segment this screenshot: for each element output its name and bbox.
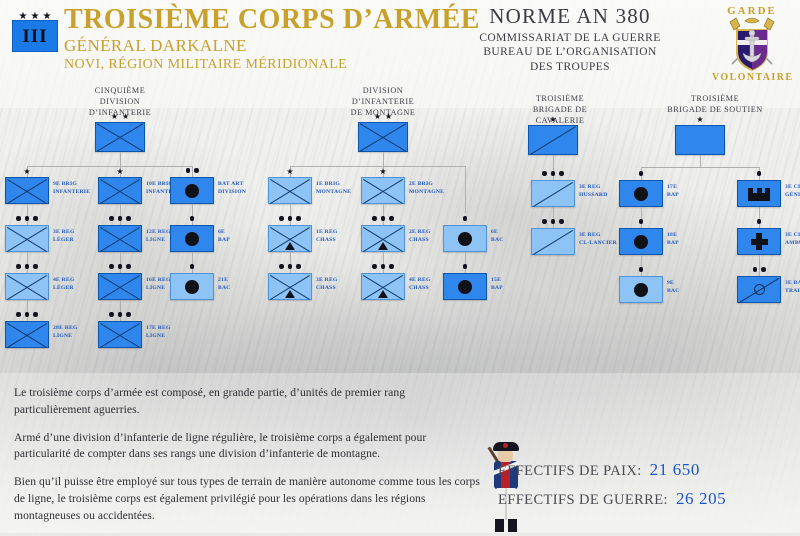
commander-name: GÉNÉRAL DARKALNE	[64, 36, 247, 56]
connector	[641, 167, 759, 168]
star-icon: ★	[23, 168, 30, 176]
unit-label: 15e BAP	[491, 277, 553, 292]
unit-symbol-artillery	[443, 273, 487, 300]
echelon-marks	[268, 264, 312, 269]
figure-cockade	[503, 443, 508, 448]
echelon-marks	[5, 312, 49, 317]
dot-icon	[109, 312, 114, 317]
mountain-triangle-icon	[285, 242, 295, 250]
dot-icon	[542, 219, 547, 224]
unit-symbol-artillery	[619, 180, 663, 207]
engineer-castle-icon	[748, 188, 770, 201]
star-icon: ★	[286, 168, 293, 176]
echelon-marks	[737, 267, 781, 272]
unit-node-15e-bap[interactable]: 15e BAP	[443, 273, 487, 300]
echelon-marks	[619, 171, 663, 176]
unit-node-9e-brig-infanterie[interactable]: ★ 9e BRIG INFANTERIE	[5, 177, 49, 204]
unit-node-5e-division-hq[interactable]: ★ ★	[95, 122, 145, 152]
unit-node-bat-art-division[interactable]: BAT ART DIVISION	[170, 177, 214, 204]
star-icon: ★	[122, 113, 129, 121]
unit-node-3e-reg-chass[interactable]: 3e REG CHASS	[268, 273, 312, 300]
unit-symbol-medical	[737, 228, 781, 255]
dot-icon	[639, 267, 644, 272]
artillery-dot-icon	[185, 232, 199, 246]
artillery-dot-icon	[458, 232, 472, 246]
connector	[120, 300, 121, 321]
effectifs-war-label: EFFECTIFS DE GUERRE:	[498, 492, 668, 509]
star-icon: ★	[385, 113, 392, 121]
unit-symbol-mountain-infantry	[361, 273, 405, 300]
unit-symbol-infantry	[98, 225, 142, 252]
effectifs-war-value: 26 205	[676, 489, 726, 509]
dot-icon	[761, 267, 766, 272]
dot-icon	[126, 264, 131, 269]
figure-boot-left	[495, 519, 504, 532]
unit-label: 18e BAP	[667, 232, 729, 247]
dot-icon	[639, 219, 644, 224]
connector	[27, 252, 28, 273]
connector	[120, 252, 121, 273]
echelon-marks	[531, 219, 575, 224]
dot-icon	[25, 312, 30, 317]
echelon-marks	[170, 264, 214, 269]
echelon-marks	[737, 171, 781, 176]
echelon-marks	[361, 216, 405, 221]
unit-label: 9e BAC	[667, 280, 729, 295]
effectifs-peace-value: 21 650	[650, 460, 700, 480]
dot-icon	[109, 216, 114, 221]
echelon-marks	[268, 216, 312, 221]
unit-symbol-infantry	[5, 321, 49, 348]
echelon-marks	[5, 216, 49, 221]
effectifs-peace-row: EFFECTIFS DE PAIX: 21 650	[498, 460, 790, 480]
connector	[553, 207, 554, 228]
dot-icon	[16, 312, 21, 317]
artillery-dot-icon	[634, 235, 648, 249]
dot-icon	[16, 264, 21, 269]
star-icon: ★	[379, 168, 386, 176]
unit-label: 3e CIE GÉNIE	[785, 184, 800, 199]
unit-symbol-train	[737, 276, 781, 303]
connector	[383, 204, 384, 225]
dot-icon	[381, 264, 386, 269]
unit-symbol-artillery	[170, 225, 214, 252]
dot-icon	[33, 312, 38, 317]
unit-node-6e-bap[interactable]: 6e BAP	[170, 225, 214, 252]
echelon-marks	[531, 171, 575, 176]
unit-symbol-cavalry	[528, 125, 578, 155]
unit-symbol-artillery	[619, 228, 663, 255]
dot-icon	[126, 312, 131, 317]
dot-icon	[33, 216, 38, 221]
description-text: Le troisième corps d’armée est composé, …	[14, 385, 484, 536]
unit-symbol-cavalry	[531, 228, 575, 255]
unit-symbol-mountain-infantry	[361, 225, 405, 252]
unit-symbol-artillery	[170, 273, 214, 300]
corps-plate: III	[12, 20, 58, 52]
echelon-marks	[98, 264, 142, 269]
dot-icon	[25, 216, 30, 221]
unit-node-6e-bac[interactable]: 6e BAC	[443, 225, 487, 252]
corps-badge: ★ ★ ★ III	[12, 12, 58, 52]
unit-symbol-artillery	[619, 276, 663, 303]
dot-icon	[186, 168, 191, 173]
artillery-dot-icon	[185, 184, 199, 198]
unit-node-10e-brig-infanterie[interactable]: ★ 10e BRIG INFANTERIE	[98, 177, 142, 204]
connector	[290, 204, 291, 225]
connector	[383, 152, 384, 166]
unit-symbol-infantry	[5, 225, 49, 252]
echelon-marks: ★	[361, 168, 405, 176]
connector	[700, 155, 701, 167]
connector	[553, 155, 554, 180]
unit-label: 17e BAP	[667, 184, 729, 199]
connector	[27, 300, 28, 321]
unit-node-9e-bac[interactable]: 9e BAC	[619, 276, 663, 303]
unit-symbol-artillery	[443, 225, 487, 252]
dot-icon	[757, 219, 762, 224]
mountain-triangle-icon	[285, 290, 295, 298]
dot-icon	[25, 264, 30, 269]
artillery-dot-icon	[458, 280, 472, 294]
unit-node-12e-reg-ligne[interactable]: 12e REG LIGNE	[98, 225, 142, 252]
connector	[27, 204, 28, 225]
effectifs-peace-label: EFFECTIFS DE PAIX:	[498, 463, 642, 480]
unit-node-1e-brig-montagne[interactable]: ★ 1e BRIG MONTAGNE	[268, 177, 312, 204]
star-icon: ★	[374, 113, 381, 121]
connector	[27, 166, 192, 167]
mountain-triangle-icon	[378, 290, 388, 298]
dot-icon	[296, 264, 301, 269]
echelon-marks	[98, 216, 142, 221]
connector	[641, 255, 642, 276]
unit-symbol-infantry	[98, 321, 142, 348]
unit-symbol-mountain-infantry	[268, 273, 312, 300]
dot-icon	[753, 267, 758, 272]
dot-icon	[551, 171, 556, 176]
dot-icon	[542, 171, 547, 176]
unit-symbol-infantry	[5, 273, 49, 300]
star-icon: ★	[549, 116, 556, 124]
unit-symbol-infantry	[95, 122, 145, 152]
dot-icon	[389, 216, 394, 221]
unit-symbol-infantry	[5, 177, 49, 204]
connector	[120, 204, 121, 225]
unit-symbol-infantry	[361, 177, 405, 204]
dot-icon	[389, 264, 394, 269]
unit-node-division-montagne-hq[interactable]: ★ ★	[358, 122, 408, 152]
unit-label: 17e REG LIGNE	[146, 325, 208, 340]
train-ring-icon	[754, 284, 765, 295]
star-icon: ★	[696, 116, 703, 124]
paragraph-3: Bien qu’il puisse être employé sur tous …	[14, 474, 484, 524]
dot-icon	[559, 219, 564, 224]
paragraph-2: Armé d’une division d’infanterie de lign…	[14, 430, 484, 464]
echelon-marks: ★	[675, 116, 725, 124]
unit-symbol-plain	[675, 125, 725, 155]
echelon-marks	[5, 264, 49, 269]
dot-icon	[288, 264, 293, 269]
unit-node-brigade-cavalerie-hq[interactable]: ★	[528, 125, 578, 155]
echelon-marks: ★ ★	[95, 113, 145, 121]
echelon-marks	[619, 219, 663, 224]
dot-icon	[463, 216, 468, 221]
echelon-marks: ★	[98, 168, 142, 176]
figure-boot-right	[508, 519, 517, 532]
paragraph-1: Le troisième corps d’armée est composé, …	[14, 385, 484, 419]
echelon-marks: ★ ★	[358, 113, 408, 121]
dot-icon	[757, 171, 762, 176]
dot-icon	[126, 216, 131, 221]
unit-node-1e-reg-chass[interactable]: 1e REG CHASS	[268, 225, 312, 252]
poster-root: ★ ★ ★ III TROISIÈME CORPS D’ARMÉE GÉNÉRA…	[0, 0, 800, 533]
connector	[120, 152, 121, 166]
unit-node-17e-bap[interactable]: 17e BAP	[619, 180, 663, 207]
artillery-dot-icon	[634, 187, 648, 201]
unit-node-brigade-soutien-hq[interactable]: ★	[675, 125, 725, 155]
unit-node-3e-reg-hussard[interactable]: 3e REG HUSSARD	[531, 180, 575, 207]
connector	[465, 252, 466, 273]
echelon-marks: ★	[268, 168, 312, 176]
dot-icon	[118, 264, 123, 269]
unit-node-2e-brig-montagne[interactable]: ★ 2e BRIG MONTAGNE	[361, 177, 405, 204]
connector	[641, 207, 642, 228]
unit-node-28e-reg-ligne[interactable]: 28e REG LIGNE	[5, 321, 49, 348]
unit-node-3e-cie-ambulance[interactable]: 3e CIE AMBULANCE	[737, 228, 781, 255]
org-chart: CINQUIÈME DIVISION D’INFANTERIE ★ ★ ★ 9e…	[0, 84, 800, 380]
unit-node-21e-bac[interactable]: 21e BAC	[170, 273, 214, 300]
unit-symbol-engineer	[737, 180, 781, 207]
echelon-marks	[443, 216, 487, 221]
dot-icon	[551, 219, 556, 224]
norme-title: NORME AN 380	[430, 4, 710, 29]
effectifs-block: EFFECTIFS DE PAIX: 21 650 EFFECTIFS DE G…	[498, 460, 790, 518]
dot-icon	[639, 171, 644, 176]
connector	[290, 252, 291, 273]
unit-node-16e-reg-ligne[interactable]: 16e REG LIGNE	[98, 273, 142, 300]
norme-block: NORME AN 380 COMMISSARIAT DE LA GUERRE B…	[430, 4, 710, 74]
dot-icon	[463, 264, 468, 269]
echelon-marks	[737, 219, 781, 224]
unit-symbol-infantry	[98, 273, 142, 300]
dot-icon	[372, 216, 377, 221]
unit-node-3e-reg-leger[interactable]: 3e REG LÉGER	[5, 225, 49, 252]
unit-node-3e-reg-cl-lancier[interactable]: 3e REG CL-LANCIER	[531, 228, 575, 255]
dot-icon	[372, 264, 377, 269]
unit-symbol-infantry	[268, 177, 312, 204]
unit-node-18e-bap[interactable]: 18e BAP	[619, 228, 663, 255]
unit-symbol-cavalry	[531, 180, 575, 207]
echelon-marks	[98, 312, 142, 317]
artillery-dot-icon	[634, 283, 648, 297]
echelon-marks	[170, 216, 214, 221]
dot-icon	[118, 216, 123, 221]
echelon-marks: ★	[528, 116, 578, 124]
connector	[759, 207, 760, 228]
unit-label: 2e BRIG MONTAGNE	[409, 181, 471, 196]
echelon-marks: ★	[5, 168, 49, 176]
unit-label: 3e CIE AMBULANCE	[785, 232, 800, 247]
unit-node-3e-cie-genie[interactable]: 3e CIE GÉNIE	[737, 180, 781, 207]
star-icon: ★	[116, 168, 123, 176]
mountain-triangle-icon	[378, 242, 388, 250]
corps-location: NOVI, RÉGION MILITAIRE MÉRIDIONALE	[64, 57, 347, 73]
connector	[290, 166, 465, 167]
column-heading-brigade-soutien: TROISIÈME BRIGADE DE SOUTIEN	[640, 94, 790, 116]
connector	[383, 252, 384, 273]
corps-numeral: III	[22, 27, 47, 46]
crest-bottom-text: VOLONTAIRE	[712, 72, 792, 83]
unit-node-2e-reg-chass[interactable]: 2e REG CHASS	[361, 225, 405, 252]
medical-cross-icon	[751, 233, 768, 250]
connector	[759, 255, 760, 276]
dot-icon	[109, 264, 114, 269]
unit-node-4e-reg-chass[interactable]: 4e REG CHASS	[361, 273, 405, 300]
dot-icon	[296, 216, 301, 221]
page-title: TROISIÈME CORPS D’ARMÉE	[64, 6, 480, 35]
echelon-marks	[361, 264, 405, 269]
dot-icon	[559, 171, 564, 176]
dot-icon	[33, 264, 38, 269]
dot-icon	[190, 264, 195, 269]
connector	[192, 204, 193, 225]
effectifs-war-row: EFFECTIFS DE GUERRE: 26 205	[498, 489, 790, 509]
star-icon: ★	[111, 113, 118, 121]
dot-icon	[279, 264, 284, 269]
unit-node-4e-reg-leger[interactable]: 4e REG LÉGER	[5, 273, 49, 300]
dot-icon	[118, 312, 123, 317]
header: ★ ★ ★ III TROISIÈME CORPS D’ARMÉE GÉNÉRA…	[0, 0, 800, 86]
unit-symbol-mountain-infantry	[268, 225, 312, 252]
unit-node-17e-reg-ligne[interactable]: 17e REG LIGNE	[98, 321, 142, 348]
norme-subtitle: COMMISSARIAT DE LA GUERRE BUREAU DE L’OR…	[430, 31, 710, 74]
connector	[192, 252, 193, 273]
unit-node-3e-bat-train[interactable]: 3e BAT TRAIN	[737, 276, 781, 303]
unit-symbol-artillery	[170, 177, 214, 204]
garde-volontaire-crest: GARDE VOLONTAIRE	[712, 4, 792, 84]
dot-icon	[16, 216, 21, 221]
dot-icon	[194, 168, 199, 173]
echelon-marks	[619, 267, 663, 272]
unit-label: 3e BAT TRAIN	[785, 280, 800, 295]
artillery-dot-icon	[185, 280, 199, 294]
echelon-marks	[170, 168, 214, 173]
dot-icon	[279, 216, 284, 221]
unit-symbol-infantry	[358, 122, 408, 152]
echelon-marks	[443, 264, 487, 269]
dot-icon	[381, 216, 386, 221]
dot-icon	[190, 216, 195, 221]
dot-icon	[288, 216, 293, 221]
unit-symbol-infantry	[98, 177, 142, 204]
